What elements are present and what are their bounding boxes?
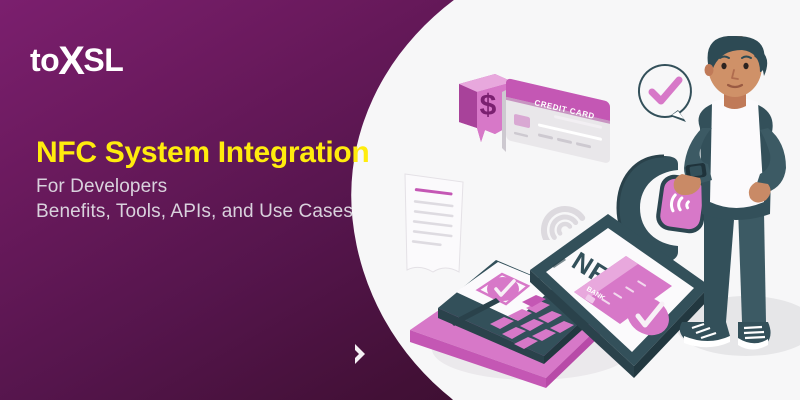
person-figure (664, 36, 800, 366)
credit-card-icon: CREDIT CARD (498, 72, 618, 182)
hero-illustration: $ CREDIT CARD (0, 0, 800, 400)
promo-banner: toXSL NFC System Integration For Develop… (0, 0, 800, 400)
svg-text:$: $ (480, 89, 497, 122)
